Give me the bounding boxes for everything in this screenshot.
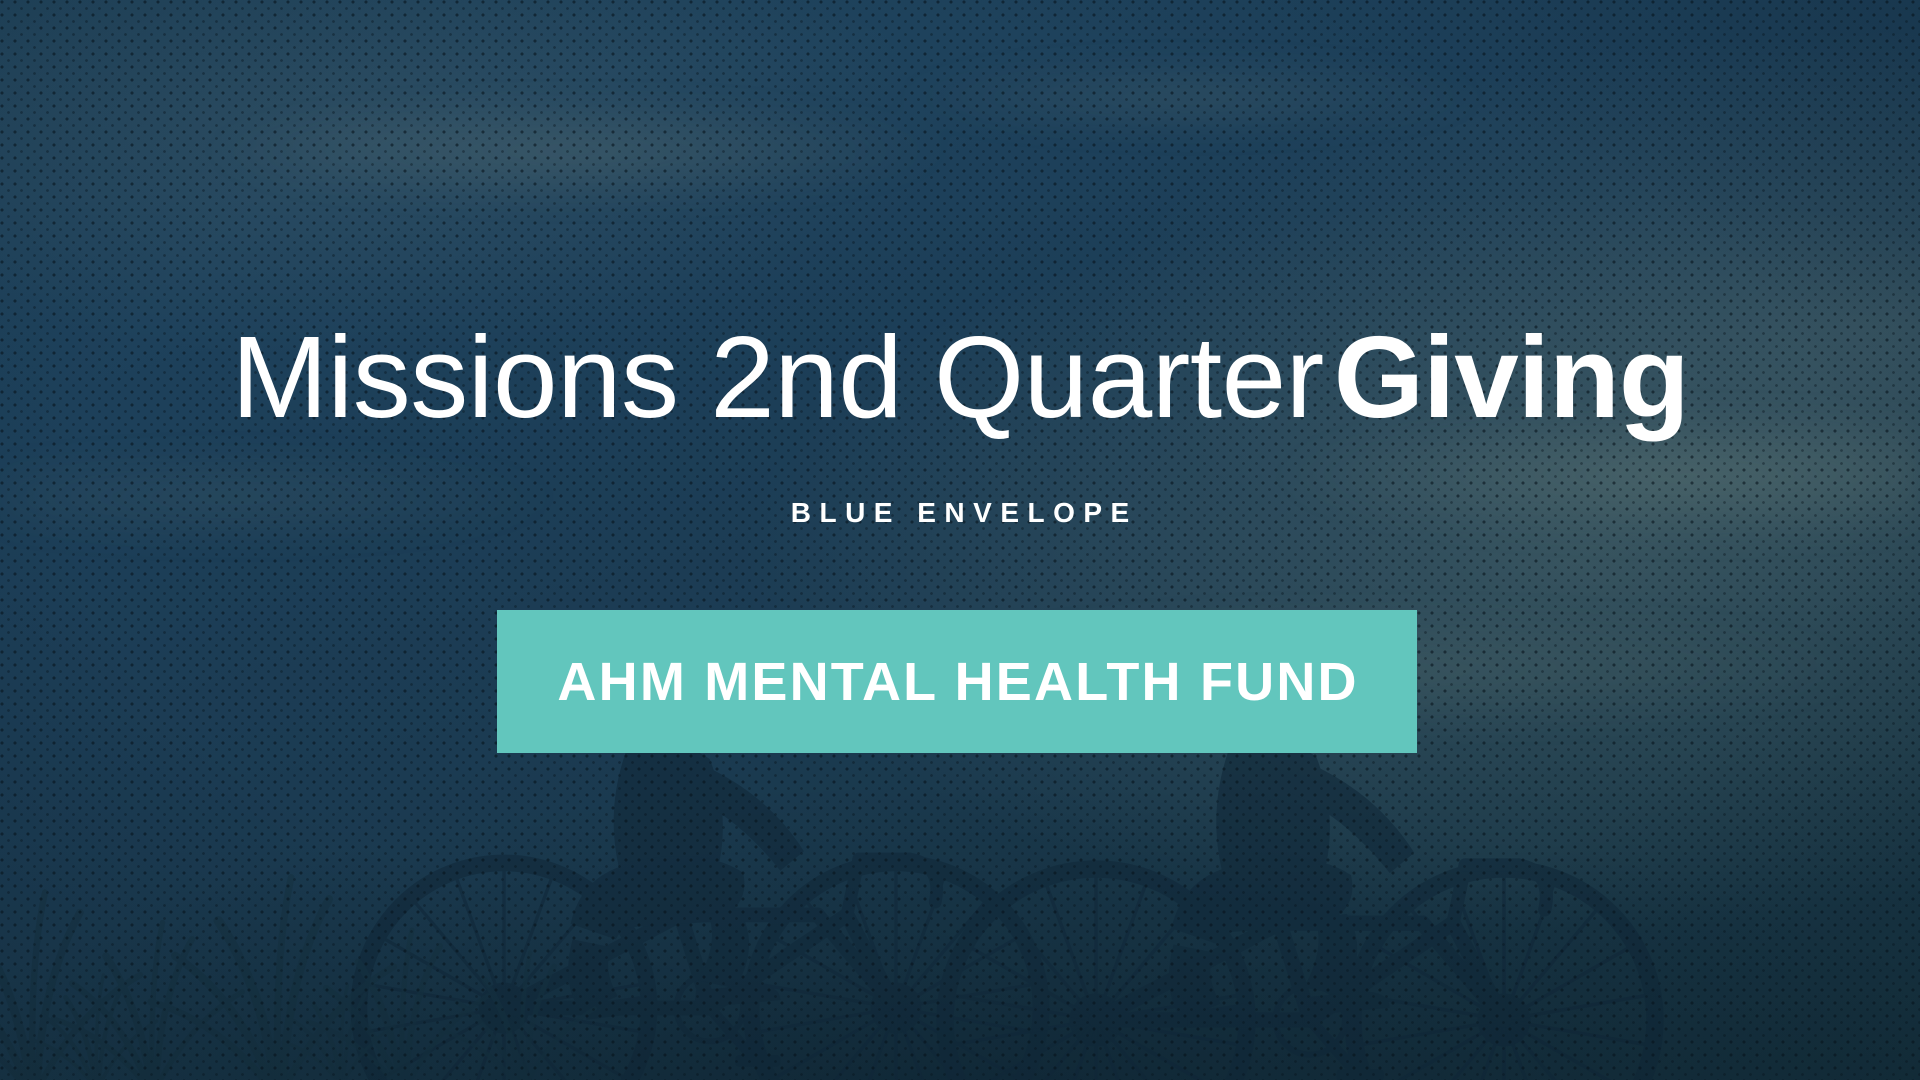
- slide-canvas: Missions 2nd QuarterGiving BLUE ENVELOPE…: [0, 0, 1920, 1080]
- fund-banner: AHM MENTAL HEALTH FUND: [497, 610, 1417, 753]
- headline-bold-part: Giving: [1334, 312, 1689, 442]
- fund-banner-label: AHM MENTAL HEALTH FUND: [555, 651, 1359, 713]
- subheading: BLUE ENVELOPE: [0, 497, 1920, 529]
- headline: Missions 2nd QuarterGiving: [0, 318, 1920, 436]
- slide-content: Missions 2nd QuarterGiving BLUE ENVELOPE…: [0, 0, 1920, 1080]
- headline-light-part: Missions 2nd Quarter: [231, 312, 1323, 442]
